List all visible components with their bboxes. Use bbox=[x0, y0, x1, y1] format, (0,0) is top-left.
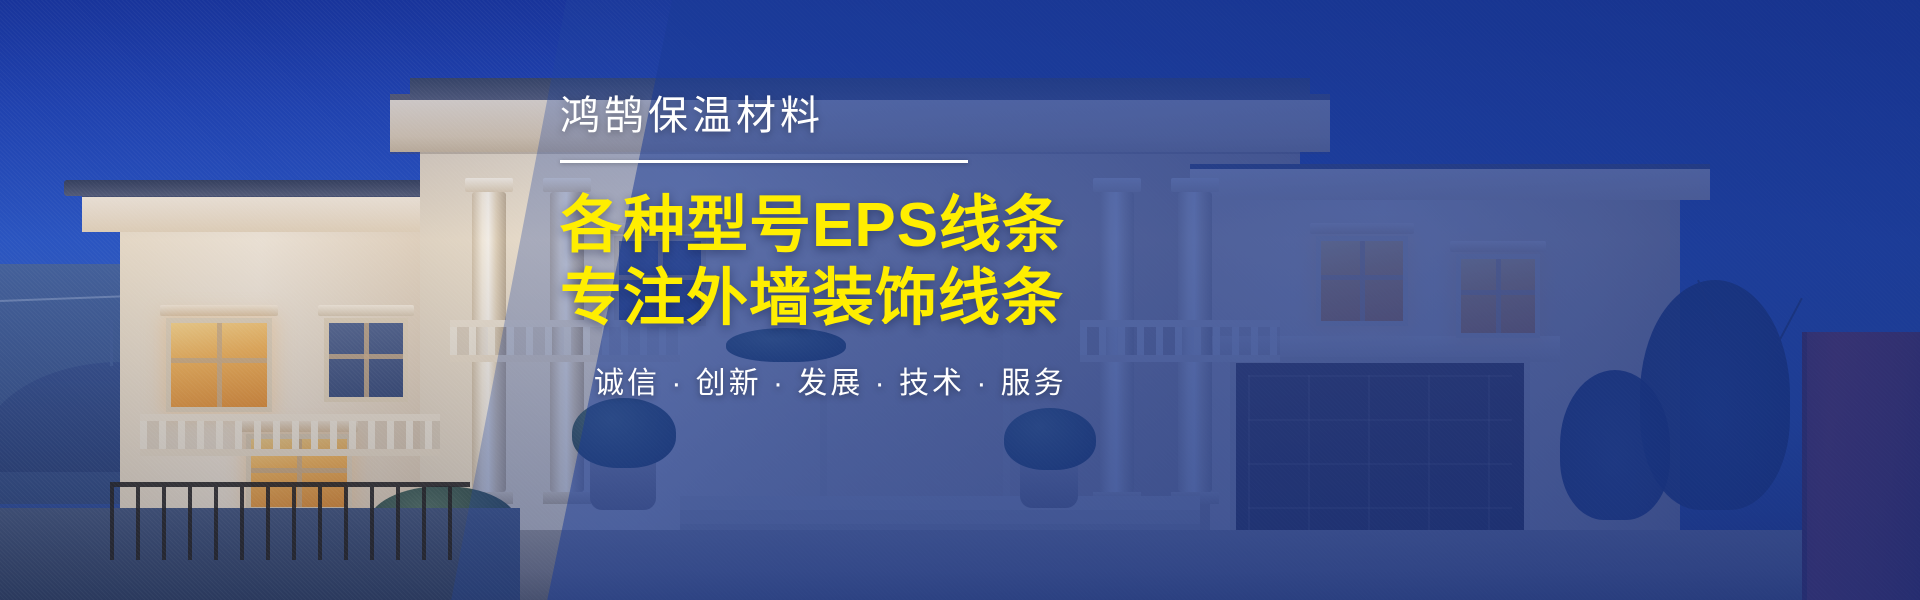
tree bbox=[1560, 370, 1670, 520]
brand-name: 鸿鹄保温材料 bbox=[560, 96, 1460, 136]
iron-railing bbox=[110, 482, 470, 560]
banner-content: 鸿鹄保温材料 各种型号EPS线条 专注外墙装饰线条 诚信 · 创新 · 发展 ·… bbox=[560, 96, 1460, 399]
window-hood bbox=[318, 305, 414, 316]
balustrade bbox=[140, 414, 440, 456]
tagline: 诚信 · 创新 · 发展 · 技术 · 服务 bbox=[594, 369, 1460, 399]
promo-banner: 鸿鹄保温材料 各种型号EPS线条 专注外墙装饰线条 诚信 · 创新 · 发展 ·… bbox=[0, 0, 1920, 600]
shrub bbox=[1004, 408, 1096, 470]
divider-rule bbox=[560, 160, 968, 163]
window-lit bbox=[1456, 254, 1540, 338]
window-lit bbox=[166, 318, 272, 412]
headline-line-2: 专注外墙装饰线条 bbox=[560, 262, 1460, 335]
headline-line-1: 各种型号EPS线条 bbox=[560, 189, 1460, 262]
red-fence-panel bbox=[1802, 332, 1920, 600]
window-dark bbox=[324, 318, 408, 402]
window-hood bbox=[1450, 241, 1546, 252]
window-hood bbox=[160, 305, 278, 316]
shrub bbox=[572, 398, 676, 468]
